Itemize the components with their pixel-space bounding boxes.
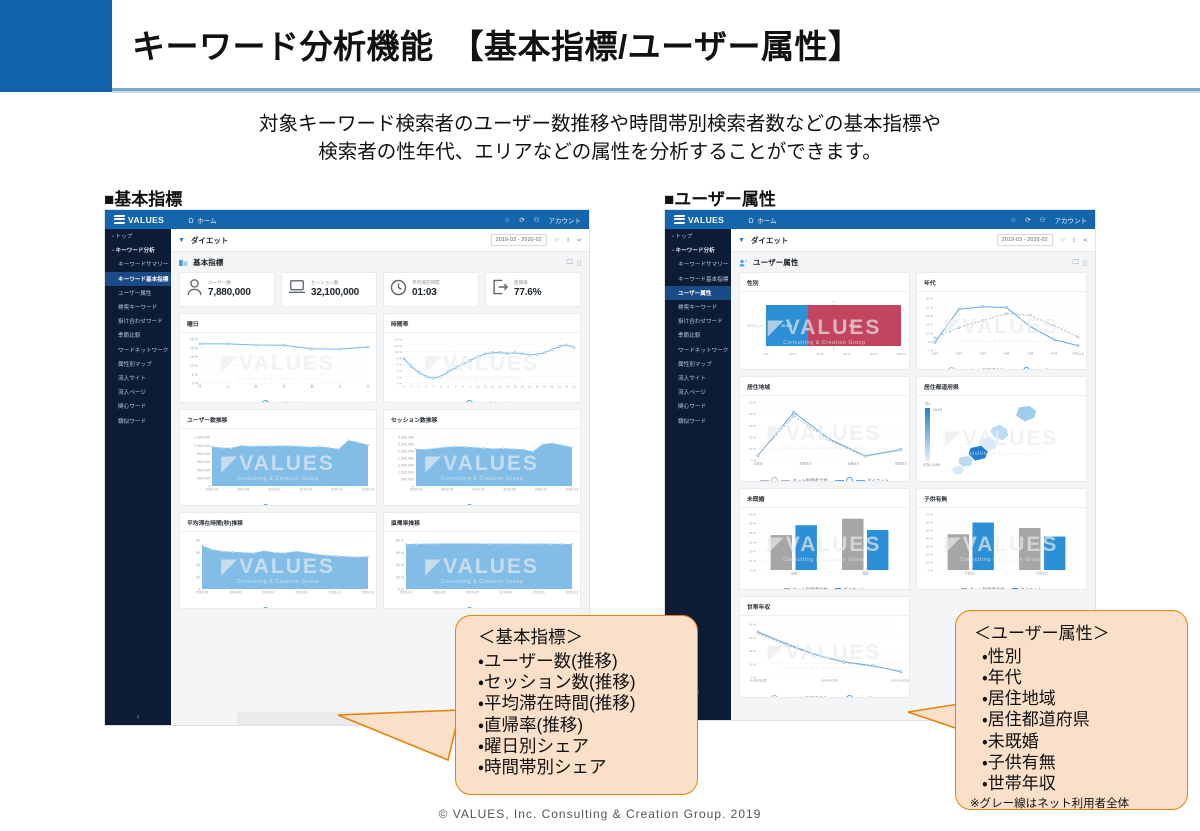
values-logo-icon [114, 215, 125, 224]
chart-legend: ダイエット [180, 504, 376, 506]
legend-item: ダイエット [835, 587, 865, 590]
svg-text:60 %: 60 % [749, 512, 756, 516]
chart-title: 性別 [740, 273, 909, 287]
svg-text:水: 水 [254, 384, 258, 389]
svg-text:14 %: 14 % [395, 338, 402, 342]
legend-item: ダイエット [455, 504, 509, 506]
svg-text:25 %: 25 % [190, 338, 199, 342]
legend-dot [466, 504, 473, 506]
sidebar-item-5[interactable]: 検索キーワード [665, 300, 731, 314]
svg-text:9: 9 [470, 385, 472, 389]
sidebar-item-label: 類似ワード [118, 419, 146, 425]
chart-plot-area: ◤VALUESConsulting & Creation Group806040… [180, 532, 376, 607]
svg-text:0.6%: 0.6% [933, 463, 940, 467]
svg-text:2019-07: 2019-07 [466, 591, 479, 595]
person-icon: ⚇ [534, 216, 540, 224]
download-icon[interactable]: ⤓ [1073, 236, 1076, 244]
chevron-down-icon[interactable]: ▼ [178, 237, 185, 244]
svg-text:3: 3 [425, 385, 427, 389]
svg-text:2019-03: 2019-03 [410, 488, 423, 492]
svg-text:20: 20 [196, 575, 200, 579]
svg-text:40 %: 40 % [926, 536, 933, 540]
keyword-bar: ▼ ダイエット 2019-03 - 2020-02 ☆ ⤓ ⋖ [171, 229, 589, 252]
sidebar-item-5[interactable]: 検索キーワード [105, 300, 171, 314]
sidebar-item-label: ワードネットワーク [118, 348, 168, 354]
svg-text:2,000,000: 2,000,000 [398, 457, 414, 461]
svg-text:6 %: 6 % [397, 363, 403, 367]
legend-dot [771, 477, 778, 482]
chart-title: 居住都道府県 [917, 377, 1086, 391]
svg-text:3,500,000: 3,500,000 [398, 436, 414, 440]
svg-text:子供なし: 子供なし [964, 571, 977, 576]
chart-card-weekday: 曜日◤VALUESConsulting & Creation Group25 %… [179, 313, 377, 403]
legend-label: ダイエット [487, 608, 509, 610]
svg-text:23: 23 [572, 385, 576, 389]
sidebar-item-label: 検索キーワード [678, 305, 717, 311]
chart-card-users-trend: ユーザー数推移◤VALUESConsulting & Creation Grou… [179, 409, 377, 506]
sidebar-item-label: ▫ キーワード分析 [672, 248, 715, 254]
user-icon [186, 278, 203, 301]
svg-text:近畿地方: 近畿地方 [847, 461, 859, 466]
sidebar-item-1[interactable]: ▫ キーワード分析 [105, 243, 171, 257]
legend-dot [262, 504, 269, 506]
svg-text:0 %: 0 % [397, 382, 403, 386]
exit-icon [492, 279, 509, 300]
download-icon[interactable]: ⤓ [567, 236, 570, 244]
sidebar-item-label: 流入ページ [118, 390, 146, 396]
legend-label: ネット利用者全体 [792, 696, 827, 699]
callout-item-5: ・子供有無 [982, 752, 1187, 773]
account-label[interactable]: アカウント [549, 215, 582, 225]
callout-item-list: ・性別・年代・居住地域・居住都道府県・未既婚・子供有無・世帯年収 [956, 646, 1187, 794]
chart-card-hourly: 時間帯◤VALUESConsulting & Creation Group14 … [383, 313, 581, 403]
sidebar-item-12[interactable]: 関心ワード [105, 399, 171, 413]
sidebar-item-0[interactable]: ▫ トップ [665, 229, 731, 243]
panel-view-toggles: 🖵 ▯ [566, 259, 581, 267]
legend-label: 女性 [837, 369, 846, 370]
svg-text:2020-01: 2020-01 [566, 488, 579, 492]
chart-card-sessions-trend: セッション数推移◤VALUESConsulting & Creation Gro… [383, 409, 581, 506]
legend-swatch [835, 588, 841, 591]
svg-text:2019-05: 2019-05 [237, 488, 250, 492]
svg-text:2019-09: 2019-09 [499, 591, 512, 595]
sidebar-item-4[interactable]: ユーザー属性 [665, 286, 731, 300]
kpi-value: 7,880,000 [208, 288, 251, 298]
svg-text:2020-01: 2020-01 [362, 591, 375, 595]
svg-text:既婚: 既婚 [862, 571, 869, 576]
sidebar-item-label: 季節比較 [678, 333, 700, 339]
svg-text:40 %: 40 % [749, 623, 756, 627]
sidebar-item-4[interactable]: ユーザー属性 [105, 286, 171, 300]
kpi-card-3: 直帰率77.6% [485, 272, 581, 307]
svg-text:1,500,000: 1,500,000 [398, 464, 414, 468]
svg-text:2020-01: 2020-01 [566, 591, 579, 595]
legend-label: ダイエット [843, 587, 865, 590]
callout-item-1: ・年代 [982, 667, 1187, 688]
svg-text:60 %: 60 % [396, 551, 405, 555]
legend-item: ダイエット [835, 477, 889, 482]
sidebar-item-10[interactable]: 流入サイト [665, 371, 731, 385]
legend-dot [771, 695, 778, 698]
legend-item: 男性 [804, 369, 821, 370]
page-title: キーワード分析機能 【基本指標/ユーザー属性】 [132, 18, 1032, 76]
legend-item: ネット利用者全体 [784, 587, 828, 590]
svg-text:40: 40 [196, 563, 200, 567]
lead-paragraph: 対象キーワード検索者のユーザー数推移や時間帯別検索者数などの基本指標や 検索者の… [60, 110, 1140, 167]
svg-text:2019-07: 2019-07 [262, 591, 275, 595]
sidebar-item-label: 掛け合わせワード [678, 319, 723, 325]
sidebar-item-8[interactable]: ワードネットワーク [665, 343, 731, 357]
chart-card-age: 年代◤VALUESConsulting & Creation Group30 %… [916, 272, 1087, 370]
callout-basic-metrics: ＜基本指標＞ ・ユーザー数(推移)・セッション数(推移)・平均滞在時間(推移)・… [455, 615, 698, 795]
svg-text:8 %: 8 % [397, 356, 403, 360]
callout-item-4: ・曜日別シェア [478, 736, 697, 757]
svg-text:2,500,000: 2,500,000 [398, 450, 414, 454]
svg-text:2019-03: 2019-03 [196, 591, 209, 595]
account-label[interactable]: アカウント [1055, 215, 1088, 225]
kpi-card-1: セッション数32,100,000 [281, 272, 377, 307]
svg-text:60: 60 [196, 551, 200, 555]
legend-swatch [804, 370, 810, 371]
svg-text:13.4%: 13.4% [933, 408, 942, 412]
chart-card-gender: 性別◤VALUESConsulting & Creation Group30.8… [739, 272, 910, 370]
chart-card-bounce-rate: 直帰率推移◤VALUESConsulting & Creation Group8… [383, 512, 581, 609]
svg-text:2019-05: 2019-05 [441, 488, 454, 492]
legend-dot [846, 695, 853, 698]
sidebar-item-8[interactable]: ワードネットワーク [105, 343, 171, 357]
sidebar-item-label: 流入サイト [678, 376, 706, 382]
chart-title: 曜日 [180, 314, 376, 328]
legend-dot [846, 477, 853, 482]
sidebar-item-label: 検索キーワード [118, 305, 157, 311]
kpi-card-2: 平均滞在時間01:03 [383, 272, 479, 307]
sidebar-item-list[interactable]: ▫ トップ▫ キーワード分析キーワードサマリーキーワード基本指標ユーザー属性検索… [105, 229, 171, 428]
kpi-card-0: ユーザー数7,880,000 [179, 272, 275, 307]
svg-text:10 %: 10 % [749, 662, 756, 666]
person-icon: ⚇ [1040, 216, 1046, 224]
app-sidebar[interactable]: ▫ トップ▫ キーワード分析キーワードサマリーキーワード基本指標ユーザー属性検索… [105, 229, 171, 725]
sidebar-item-9[interactable]: 属性別マップ [105, 357, 171, 371]
desktop-view-icon[interactable]: 🖵 [566, 259, 573, 267]
sidebar-item-11[interactable]: 流入ページ [665, 385, 731, 399]
svg-text:30 %: 30 % [749, 540, 756, 544]
chart-plot-area: ◤VALUESConsulting & Creation Group多い13.4… [917, 396, 1086, 482]
svg-text:80 %: 80 % [396, 539, 405, 543]
legend-item: ダイエット [455, 400, 509, 403]
svg-text:土: 土 [338, 384, 342, 389]
sidebar-item-7[interactable]: 季節比較 [665, 328, 731, 342]
sidebar-collapse-icon[interactable]: ‹ [105, 714, 171, 721]
callout-item-list: ・ユーザー数(推移)・セッション数(推移)・平均滞在時間(推移)・直帰率(推移)… [456, 651, 697, 778]
svg-text:50代: 50代 [1027, 351, 1033, 356]
sidebar-item-label: ▫ キーワード分析 [112, 248, 155, 254]
sidebar-item-2[interactable]: キーワードサマリー [105, 257, 171, 271]
chart-title: 子供有無 [917, 489, 1086, 503]
svg-text:4 %: 4 % [397, 369, 403, 373]
legend-line [835, 480, 844, 481]
slide-footer: © VALUES, Inc. Consulting & Creation Gro… [0, 807, 1200, 821]
svg-text:20 %: 20 % [749, 649, 756, 653]
sidebar-item-7[interactable]: 季節比較 [105, 328, 171, 342]
svg-text:1,200,000: 1,200,000 [194, 436, 210, 440]
legend-dot [466, 400, 473, 403]
date-range-selector[interactable]: 2019-03 - 2020-02 [997, 234, 1053, 245]
svg-text:2019-09: 2019-09 [299, 488, 312, 492]
favorite-star-icon[interactable]: ☆ [1060, 236, 1066, 244]
sidebar-item-label: ▫ トップ [672, 234, 692, 240]
sidebar-item-label: 属性別マップ [678, 362, 712, 368]
svg-text:2019-09: 2019-09 [295, 591, 308, 595]
legend-dot [262, 400, 269, 403]
chart-title: 居住地域 [740, 377, 909, 391]
legend-swatch [828, 370, 834, 371]
svg-text:40 %: 40 % [749, 412, 756, 416]
sidebar-item-10[interactable]: 流入サイト [105, 371, 171, 385]
svg-text:70代以上: 70代以上 [1072, 351, 1084, 356]
brand-logo-group: VALUES [674, 215, 724, 225]
svg-text:2019-07: 2019-07 [472, 488, 485, 492]
chart-legend: ネット利用者全体ダイエット [917, 587, 1086, 590]
svg-text:80: 80 [196, 539, 200, 543]
svg-text:1,000,000: 1,000,000 [194, 444, 210, 448]
sidebar-item-list[interactable]: ▫ トップ▫ キーワード分析キーワードサマリーキーワード基本指標ユーザー属性検索… [665, 229, 731, 428]
svg-text:11: 11 [484, 385, 487, 389]
metrics-icon [179, 259, 188, 267]
svg-text:2019-03: 2019-03 [206, 488, 219, 492]
chart-plot-area: ◤VALUESConsulting & Creation Group3,500,… [384, 429, 580, 504]
sidebar-item-9[interactable]: 属性別マップ [665, 357, 731, 371]
svg-text:80 %: 80 % [870, 352, 877, 356]
svg-text:60 %: 60 % [843, 352, 850, 356]
desktop-view-icon[interactable]: 🖵 [1072, 259, 1079, 267]
chart-title: セッション数推移 [384, 410, 580, 424]
chart-legend: ダイエット [180, 607, 376, 609]
chevron-down-icon[interactable]: ▼ [738, 237, 745, 244]
sidebar-item-12[interactable]: 関心ワード [665, 399, 731, 413]
svg-text:ダイエット: ダイエット [747, 323, 763, 328]
chart-plot-area: ◤VALUESConsulting & Creation Group50 %40… [740, 396, 909, 477]
sidebar-item-1[interactable]: ▫ キーワード分析 [665, 243, 731, 257]
panel-title: 基本指標 [193, 257, 223, 268]
svg-text:2019-05: 2019-05 [433, 591, 446, 595]
sidebar-item-11[interactable]: 流入ページ [105, 385, 171, 399]
svg-text:10 %: 10 % [749, 559, 756, 563]
favorite-star-icon[interactable]: ☆ [554, 236, 560, 244]
svg-text:21: 21 [558, 385, 562, 389]
callout-item-2: ・平均滞在時間(推移) [478, 693, 697, 714]
app-topbar: VALUES ホーム ☆ ⟳ ⚇ アカウント [665, 210, 1095, 229]
callout-item-3: ・直帰率(推移) [478, 715, 697, 736]
legend-item: ダイエット [251, 607, 305, 609]
svg-text:7: 7 [455, 385, 457, 389]
brand-name: VALUES [688, 215, 724, 225]
chart-title: 年代 [917, 273, 1086, 287]
sidebar-item-label: キーワード基本指標 [678, 277, 728, 283]
svg-text:16: 16 [521, 385, 525, 389]
sidebar-item-label: 季節比較 [118, 333, 140, 339]
chart-card-marital: 未既婚◤VALUESConsulting & Creation Group60 … [739, 488, 910, 590]
sidebar-item-6[interactable]: 掛け合わせワード [665, 314, 731, 328]
sidebar-item-label: ▫ トップ [112, 234, 132, 240]
legend-label: ダイエット [487, 505, 509, 507]
brand-logo-group: VALUES [114, 215, 164, 225]
svg-text:3,000,000: 3,000,000 [398, 443, 414, 447]
legend-item: ダイエット [835, 695, 889, 698]
sidebar-item-2[interactable]: キーワードサマリー [665, 257, 731, 271]
svg-text:40代: 40代 [1003, 351, 1009, 356]
legend-item: ダイエット [251, 504, 305, 506]
sidebar-item-3[interactable]: キーワード基本指標 [665, 272, 731, 286]
svg-text:1000-1500万円: 1000-1500万円 [891, 679, 909, 683]
sidebar-item-3[interactable]: キーワード基本指標 [105, 272, 171, 286]
sidebar-item-0[interactable]: ▫ トップ [105, 229, 171, 243]
selected-keyword[interactable]: ダイエット [191, 235, 228, 246]
legend-label: ダイエット [487, 401, 509, 404]
laptop-icon [288, 279, 306, 300]
legend-label: ダイエット [283, 608, 305, 610]
share-icon[interactable]: ⋖ [577, 236, 582, 244]
svg-text:500,000: 500,000 [401, 478, 414, 482]
chart-card-grid: 曜日◤VALUESConsulting & Creation Group25 %… [171, 313, 589, 609]
brand-name: VALUES [128, 215, 164, 225]
callout-item-1: ・セッション数(推移) [478, 672, 697, 693]
svg-text:30 %: 30 % [926, 297, 933, 301]
svg-text:2019-11: 2019-11 [329, 591, 341, 595]
refresh-icon[interactable]: ⟳ [519, 216, 524, 224]
callout-user-attributes: ＜ユーザー属性＞ ・性別・年代・居住地域・居住都道府県・未既婚・子供有無・世帯年… [955, 610, 1188, 810]
svg-text:20 %: 20 % [749, 550, 756, 554]
svg-text:4: 4 [433, 385, 435, 389]
svg-text:15 %: 15 % [926, 323, 933, 327]
svg-text:20 %: 20 % [926, 552, 933, 556]
refresh-icon[interactable]: ⟳ [1025, 216, 1030, 224]
svg-text:17: 17 [528, 385, 532, 389]
panel-title: ユーザー属性 [753, 257, 798, 268]
sidebar-item-label: キーワードサマリー [118, 262, 168, 268]
home-icon [748, 217, 754, 223]
svg-text:600-800万円: 600-800万円 [821, 679, 838, 683]
svg-text:50 %: 50 % [749, 401, 756, 405]
svg-text:10 %: 10 % [926, 331, 933, 335]
star-icon[interactable]: ☆ [504, 216, 510, 224]
legend-item: ダイエット [455, 607, 509, 609]
chart-legend: ネット利用者全体ダイエット [740, 477, 909, 482]
svg-text:69.2 %: 69.2 % [849, 324, 861, 328]
sidebar-item-label: ワードネットワーク [678, 348, 728, 354]
svg-text:未婚: 未婚 [791, 571, 798, 576]
legend-dot [466, 607, 473, 609]
sidebar-item-label: 掛け合わせワード [118, 319, 163, 325]
svg-text:400,000: 400,000 [197, 468, 210, 472]
svg-text:10 %: 10 % [749, 447, 756, 451]
chart-plot-area: ◤VALUESConsulting & Creation Group30.8 %… [740, 292, 909, 369]
mobile-view-icon[interactable]: ▯ [1083, 259, 1087, 267]
chart-card-prefecture: 居住都道府県◤VALUESConsulting & Creation Group… [916, 376, 1087, 482]
selected-keyword[interactable]: ダイエット [751, 235, 788, 246]
mobile-view-icon[interactable]: ▯ [577, 259, 581, 267]
sidebar-item-label: 関心ワード [678, 404, 706, 410]
lead-line-1: 対象キーワード検索者のユーザー数推移や時間帯別検索者数などの基本指標や [60, 110, 1140, 138]
legend-item: ネット利用者全体 [937, 367, 1005, 370]
svg-text:30 %: 30 % [926, 544, 933, 548]
chart-plot-area: ◤VALUESConsulting & Creation Group14 %12… [384, 333, 580, 400]
svg-text:200,000: 200,000 [197, 476, 210, 480]
chart-legend: ダイエット [180, 400, 376, 403]
svg-text:多い: 多い [925, 401, 931, 406]
svg-text:30 %: 30 % [749, 636, 756, 640]
legend-label: ダイエット [867, 696, 889, 699]
star-icon[interactable]: ☆ [1010, 216, 1016, 224]
chart-plot-area: ◤VALUESConsulting & Creation Group30 %25… [917, 292, 1086, 367]
svg-text:600,000: 600,000 [197, 460, 210, 464]
legend-item: ダイエット [1012, 587, 1042, 590]
svg-text:10 %: 10 % [190, 364, 199, 368]
sidebar-item-13[interactable]: 類似ワード [105, 413, 171, 427]
svg-text:800,000: 800,000 [197, 452, 210, 456]
svg-text:火: 火 [226, 385, 230, 389]
svg-text:18: 18 [535, 385, 539, 389]
legend-swatch [961, 588, 967, 591]
header-accent-block [0, 0, 112, 92]
kpi-card-row: ユーザー数7,880,000セッション数32,100,000平均滞在時間01:0… [171, 272, 589, 313]
chart-title: 平均滞在時間(秒)推移 [180, 513, 376, 527]
topbar-home-label: ホーム [757, 215, 776, 225]
svg-text:60 %: 60 % [926, 520, 933, 524]
chart-title: 世帯年収 [740, 597, 909, 611]
sidebar-item-label: ユーザー属性 [118, 291, 151, 297]
lead-line-2: 検索者の性年代、エリアなどの属性を分析することができます。 [60, 138, 1140, 166]
svg-text:25 %: 25 % [926, 305, 933, 309]
topbar-actions: ☆ ⟳ ⚇ アカウント [504, 215, 581, 225]
topbar-actions: ☆ ⟳ ⚇ アカウント [1010, 215, 1087, 225]
svg-text:2: 2 [418, 385, 420, 389]
keyword-bar-actions: 2019-03 - 2020-02 ☆ ⤓ ⋖ [997, 234, 1088, 245]
app-topbar: VALUES ホーム ☆ ⟳ ⚇ アカウント [105, 210, 589, 229]
svg-text:0 %: 0 % [928, 568, 934, 572]
sidebar-item-6[interactable]: 掛け合わせワード [105, 314, 171, 328]
svg-text:5 %: 5 % [928, 340, 934, 344]
legend-line [856, 480, 865, 481]
legend-item: ネット利用者全体 [961, 587, 1005, 590]
topbar-home-link[interactable]: ホーム [748, 215, 776, 225]
share-icon[interactable]: ⋖ [1083, 236, 1088, 244]
svg-text:14: 14 [506, 385, 510, 389]
legend-label: ダイエット [283, 401, 305, 404]
svg-text:20代: 20代 [956, 351, 962, 356]
user-attributes-icon [739, 259, 748, 267]
legend-label: ダイエット [283, 505, 305, 507]
sidebar-item-label: 流入サイト [118, 376, 146, 382]
legend-swatch [1012, 588, 1018, 591]
callout-item-3: ・居住都道府県 [982, 709, 1187, 730]
sidebar-item-13[interactable]: 類似ワード [665, 413, 731, 427]
date-range-selector[interactable]: 2019-03 - 2020-02 [491, 234, 547, 245]
svg-text:木: 木 [282, 384, 286, 389]
legend-label: ネット利用者全体 [969, 368, 1004, 371]
legend-dot [1023, 367, 1030, 370]
kpi-value: 32,100,000 [311, 288, 359, 298]
kpi-value: 77.6% [514, 288, 541, 298]
chart-plot-area: ◤VALUESConsulting & Creation Group60 %50… [740, 508, 909, 587]
svg-text:15: 15 [513, 385, 517, 389]
section-label-basic-metrics: ■基本指標 [104, 185, 182, 210]
sidebar-item-label: 流入ページ [678, 390, 706, 396]
keyword-bar-actions: 2019-03 - 2020-02 ☆ ⤓ ⋖ [491, 234, 582, 245]
legend-label: ダイエット [1044, 368, 1066, 371]
topbar-home-link[interactable]: ホーム [188, 215, 216, 225]
chart-plot-area: ◤VALUESConsulting & Creation Group25 %20… [180, 333, 376, 400]
svg-text:金: 金 [310, 384, 314, 389]
